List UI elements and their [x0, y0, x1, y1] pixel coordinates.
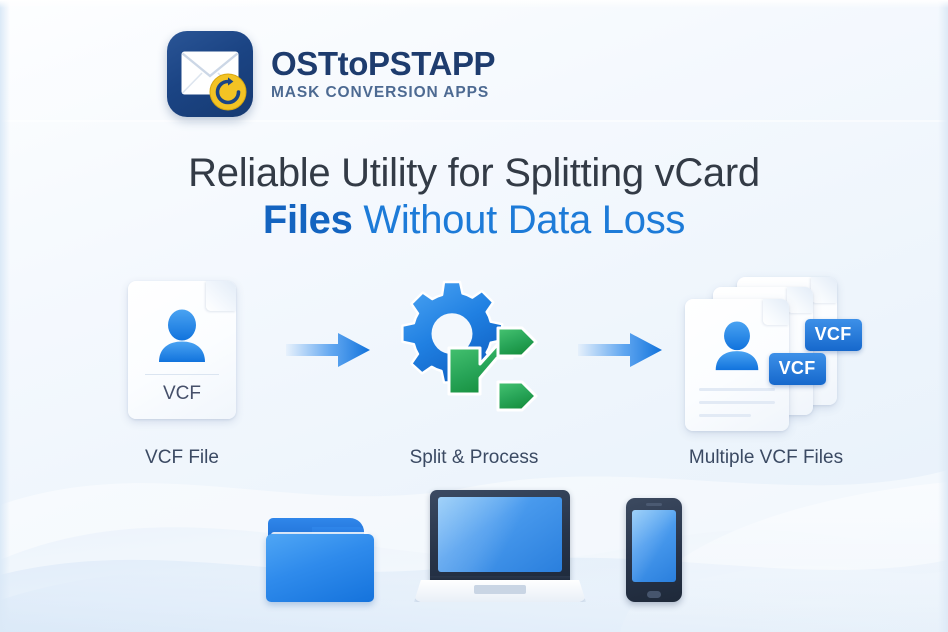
page-fold-corner	[206, 281, 236, 311]
brand-name: OSTtoPSTAPP	[271, 47, 495, 80]
arrow-right-icon	[286, 330, 370, 370]
flow-step-source-label: VCF File	[145, 447, 219, 469]
person-icon	[154, 309, 210, 363]
gear-split-icon	[394, 278, 554, 423]
flow-step-process-art	[394, 275, 554, 425]
flow-step-output-art: VCF VCF	[679, 275, 854, 425]
flow-step-process: Split & Process	[374, 275, 574, 469]
vcf-badge: VCF	[769, 353, 826, 385]
flow-step-process-label: Split & Process	[410, 447, 539, 469]
headline-emphasis: Files	[263, 198, 353, 242]
text-line	[699, 414, 751, 417]
smartphone-icon	[626, 498, 682, 602]
brand-header: OSTtoPSTAPP MASK CONVERSION APPS	[167, 31, 495, 117]
device-row	[0, 482, 948, 602]
vcf-file-document-icon: VCF	[128, 281, 236, 419]
headline-line-2: Files Without Data Loss	[0, 197, 948, 244]
file-extension-label: VCF	[128, 383, 236, 405]
flow-arrow-2	[574, 275, 666, 425]
brand-tagline: MASK CONVERSION APPS	[271, 85, 495, 101]
page-fold-corner	[787, 287, 813, 313]
page-fold-corner	[811, 277, 837, 303]
flow-step-output-label: Multiple VCF Files	[689, 447, 843, 469]
laptop-icon	[414, 490, 586, 602]
phone-speaker	[646, 503, 662, 506]
page-fold-corner	[763, 299, 789, 325]
headline-line-1: Reliable Utility for Splitting vCard	[0, 150, 948, 197]
flow-step-output: VCF VCF Multiple VCF Files	[666, 275, 866, 469]
top-edge-highlight	[0, 0, 948, 8]
promo-banner: OSTtoPSTAPP MASK CONVERSION APPS Reliabl…	[0, 0, 948, 632]
text-line	[699, 388, 775, 391]
folder-icon	[266, 518, 374, 602]
laptop-trackpad	[474, 585, 526, 594]
folder-body	[266, 534, 374, 602]
person-icon	[711, 321, 763, 371]
multiple-vcf-files-icon: VCF VCF	[679, 275, 854, 425]
flow-step-source-art: VCF	[128, 275, 236, 425]
text-line	[699, 401, 775, 404]
card-divider	[145, 374, 219, 375]
flow-arrow-1	[282, 275, 374, 425]
laptop-screen-glare	[438, 497, 562, 572]
headline: Reliable Utility for Splitting vCard Fil…	[0, 150, 948, 244]
app-logo-icon	[167, 31, 253, 117]
process-flow: VCF VCF File	[0, 275, 948, 469]
refresh-icon	[209, 73, 247, 111]
vcf-badge: VCF	[805, 319, 862, 351]
headline-line-2-rest: Without Data Loss	[363, 198, 685, 242]
phone-screen-glare	[632, 510, 676, 582]
phone-home-button	[647, 591, 661, 598]
arrow-right-icon	[578, 330, 662, 370]
flow-step-source: VCF VCF File	[82, 275, 282, 469]
